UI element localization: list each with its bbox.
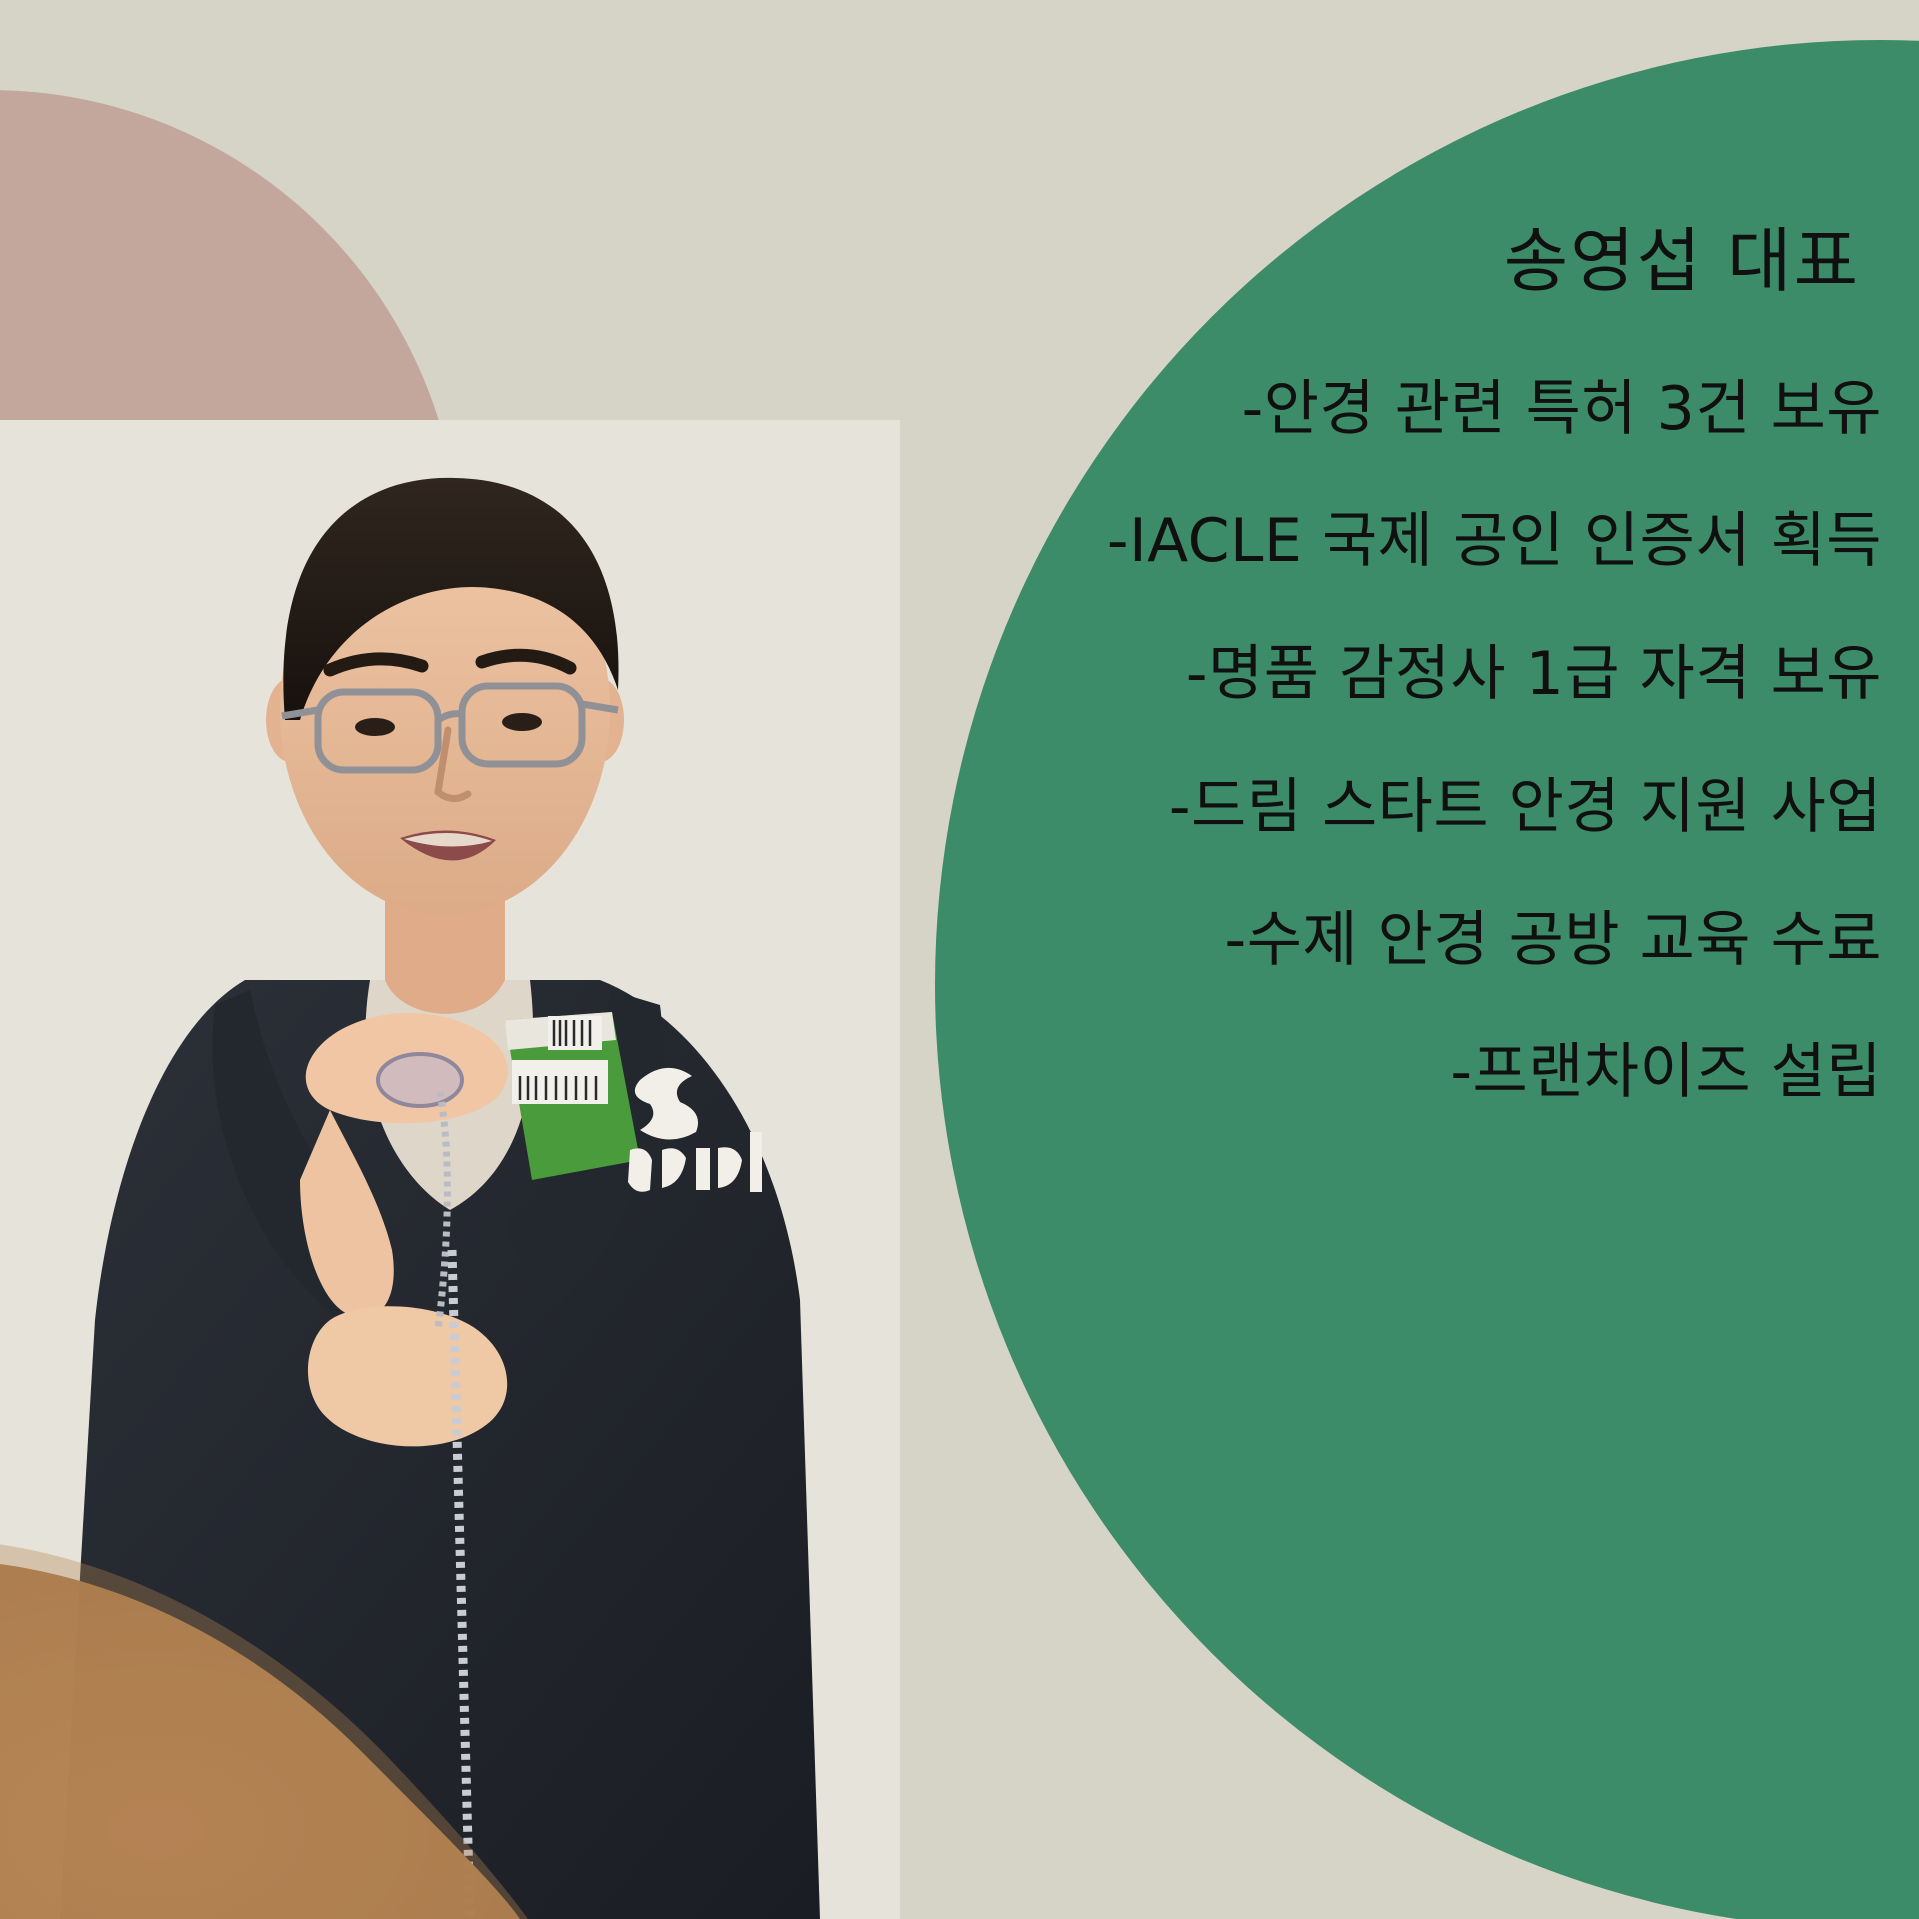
credential-item: -IACLE 국제 공인 인증서 획득 xyxy=(840,509,1900,574)
credential-item: -수제 안경 공방 교육 수료 xyxy=(840,908,1900,973)
profile-name: 송영섭 대표 xyxy=(840,225,1900,299)
credential-item: -드림 스타트 안경 지원 사업 xyxy=(840,775,1900,840)
credential-item: -명품 감정사 1급 자격 보유 xyxy=(840,642,1900,707)
profile-text-block: 송영섭 대표 -안경 관련 특허 3건 보유 -IACLE 국제 공인 인증서 … xyxy=(840,225,1900,1105)
credential-item: -프랜차이즈 설립 xyxy=(840,1040,1900,1105)
profile-poster: 송영섭 대표 -안경 관련 특허 3건 보유 -IACLE 국제 공인 인증서 … xyxy=(0,0,1919,1919)
portrait-photo xyxy=(0,420,900,1919)
credential-item: -안경 관련 특허 3건 보유 xyxy=(840,377,1900,442)
